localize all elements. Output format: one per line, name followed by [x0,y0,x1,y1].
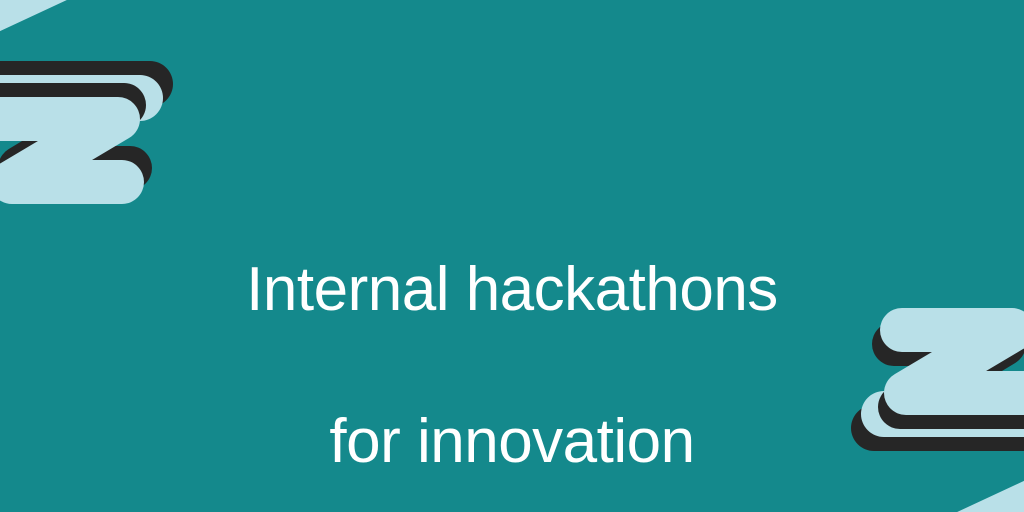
banner-headline: Internal hackathons for innovation [0,176,1024,512]
headline-line-1: Internal hackathons [120,252,904,328]
headline-line-2: for innovation [120,404,904,480]
banner-card: Internal hackathons for innovation [0,0,1024,512]
top-left-zigzag-lower [0,105,130,182]
top-left-zigzag-upper [0,0,150,98]
